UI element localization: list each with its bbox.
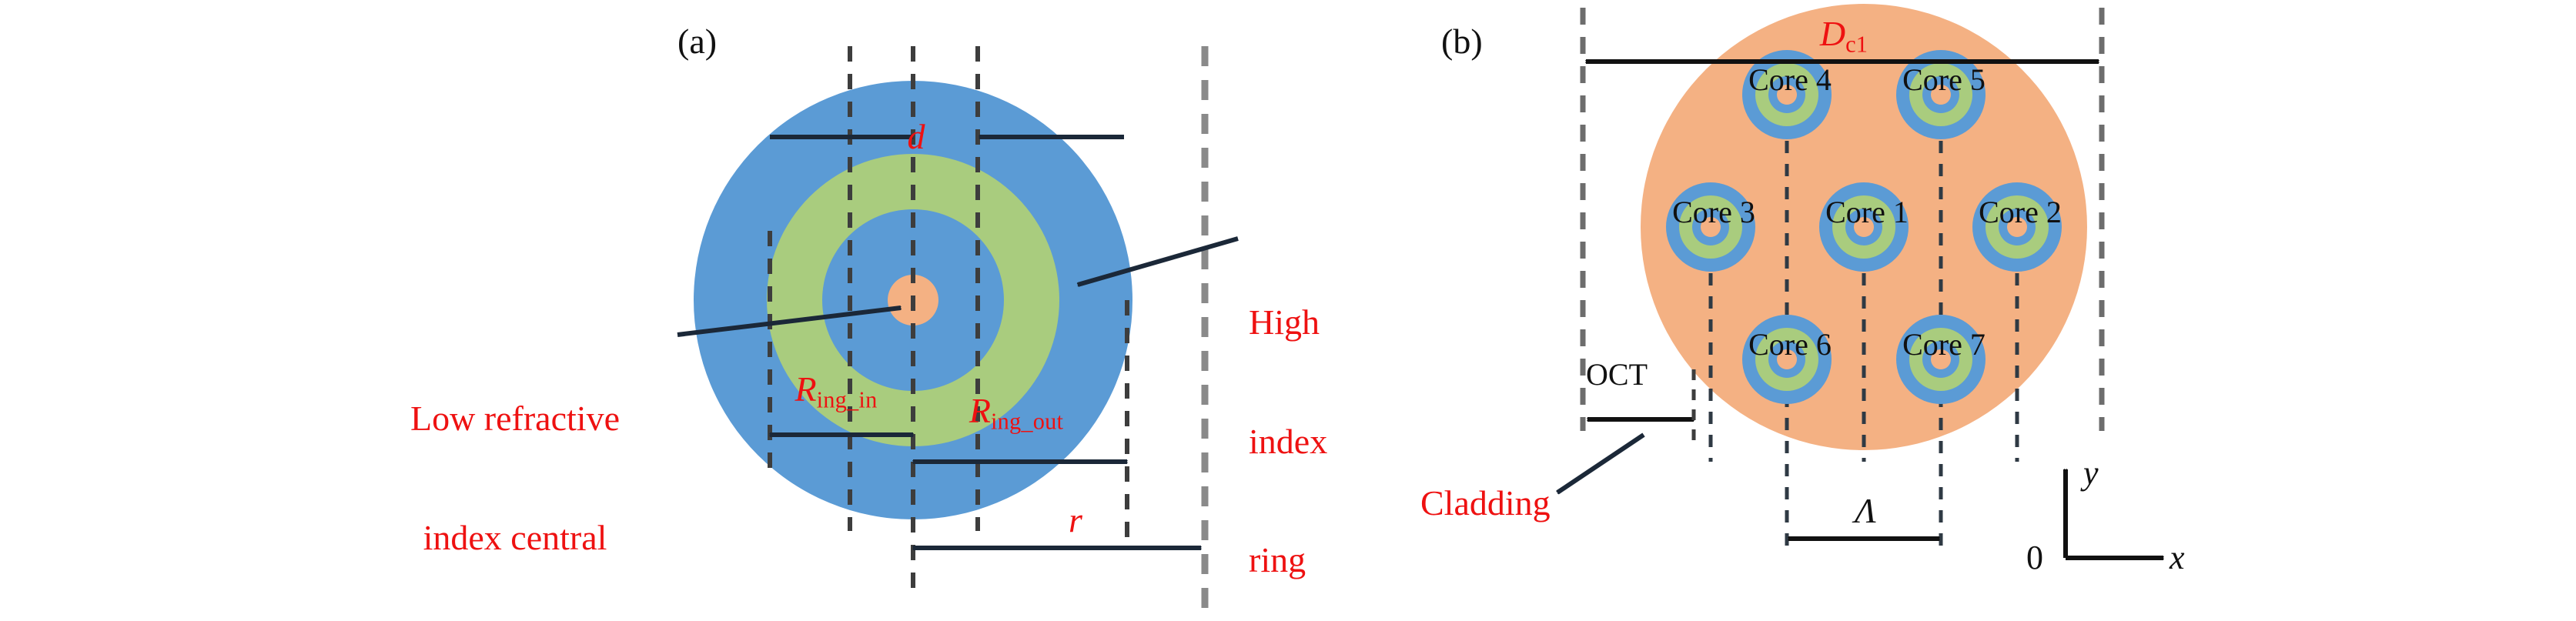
low-index-line-1: Low refractive xyxy=(380,399,650,439)
dim-label-ring-out-sub: ing_out xyxy=(991,409,1063,435)
dim-label-ring-out: Ring_out xyxy=(969,391,1063,435)
low-index-annotation: Low refractive index central region xyxy=(380,319,650,621)
dim-label-r: r xyxy=(1069,500,1082,540)
figure-root: (a) d Low refractive index central regio… xyxy=(0,0,2576,621)
core-label-5: Core 5 xyxy=(1902,63,1986,98)
core-label-1: Core 1 xyxy=(1825,195,1909,230)
high-index-line-3: ring xyxy=(1249,540,1327,580)
core-label-7: Core 7 xyxy=(1902,328,1986,362)
core-label-6: Core 6 xyxy=(1748,328,1832,362)
core-label-2: Core 2 xyxy=(1979,195,2062,230)
dim-label-ring-out-base: R xyxy=(969,391,991,430)
core-label-3: Core 3 xyxy=(1672,195,1755,230)
core-label-4: Core 4 xyxy=(1748,63,1832,98)
low-index-line-2: index central xyxy=(380,518,650,558)
dim-label-ring-in-base: R xyxy=(795,369,817,409)
axis-origin-label: 0 xyxy=(2026,539,2043,576)
axis-x-label: x xyxy=(2170,539,2185,576)
axis-y-label: y xyxy=(2083,454,2099,492)
dim-label-ring-in-sub: ing_in xyxy=(817,387,878,413)
coordinate-axes xyxy=(2066,469,2163,558)
dim-label-lambda: Λ xyxy=(1855,491,1876,531)
dim-label-d: d xyxy=(908,117,925,157)
dim-label-ring-in: Ring_in xyxy=(795,369,878,413)
dim-label-dc1: Dc1 xyxy=(1820,14,1868,58)
panel-b-tag: (b) xyxy=(1441,22,1483,62)
high-index-line-1: High xyxy=(1249,302,1327,342)
leader-cladding xyxy=(1557,435,1644,492)
cladding-annotation: Cladding xyxy=(1420,483,1551,523)
dim-label-dc1-base: D xyxy=(1820,14,1845,53)
high-index-ring-annotation: High index ring xyxy=(1249,223,1327,621)
dim-label-oct: OCT xyxy=(1586,358,1648,392)
dim-label-dc1-sub: c1 xyxy=(1845,32,1868,58)
high-index-line-2: index xyxy=(1249,422,1327,462)
panel-a-tag: (a) xyxy=(677,22,717,62)
